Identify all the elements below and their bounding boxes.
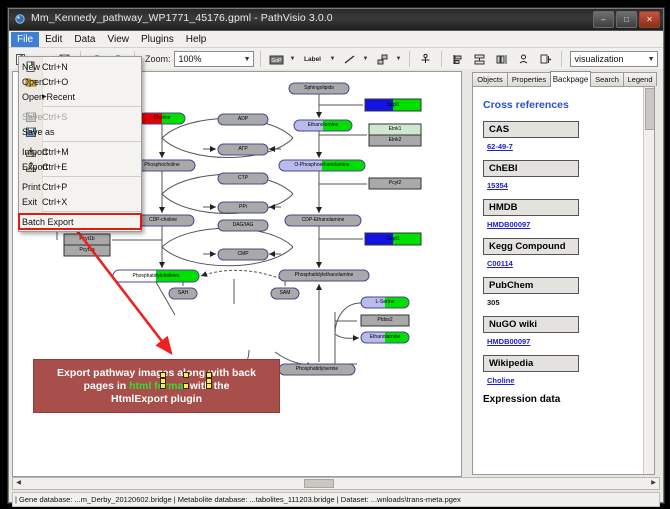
svg-text:GnP: GnP	[271, 58, 282, 64]
group-icon[interactable]	[514, 50, 533, 69]
anchor-icon[interactable]	[416, 50, 435, 69]
scrollbar-thumb[interactable]	[645, 88, 655, 130]
no-icon	[19, 214, 42, 229]
pathvisio-window: Mm_Kennedy_pathway_WP1771_45176.gpml - P…	[8, 8, 664, 503]
toolbar-separator	[260, 51, 261, 67]
xref-pubchem: PubChem 305	[483, 277, 654, 307]
xref-head-kegg: Kegg Compound	[483, 238, 579, 255]
line-dropdown-icon[interactable]: ▼	[362, 56, 370, 62]
hscroll-thumb[interactable]	[304, 479, 334, 488]
tab-backpage[interactable]: Backpage	[550, 71, 591, 87]
file-menu-items: NewCtrl+NOpenCtrl+OOpen Recent▶SaveCtrl+…	[19, 59, 141, 229]
selection-handle[interactable]	[183, 383, 189, 389]
visualization-value: visualization	[575, 54, 624, 64]
selection-handle[interactable]	[183, 372, 189, 378]
menu-edit[interactable]: Edit	[39, 32, 68, 47]
expression-data-title: Expression data	[483, 394, 654, 405]
zoom-combo[interactable]: 100% ▼	[174, 51, 254, 67]
xref-hmdb: HMDB HMDB00097	[483, 199, 654, 229]
menu-file[interactable]: File	[11, 32, 39, 47]
scroll-right-icon[interactable]: ▶	[648, 478, 659, 487]
selection-handle[interactable]	[160, 383, 166, 389]
maximize-button[interactable]: □	[616, 11, 637, 28]
close-button[interactable]: ✕	[639, 11, 660, 28]
menu-item-accelerator: Ctrl+N	[42, 62, 75, 72]
backpage-panel: Cross references CAS 62-49-7 ChEBI 15354…	[472, 86, 655, 475]
xref-kegg: Kegg Compound C00114	[483, 238, 654, 268]
menu-separator	[42, 176, 141, 177]
menu-item-batch-export[interactable]: Batch Export	[19, 214, 141, 229]
xref-value-cas[interactable]: 62-49-7	[487, 142, 654, 151]
menu-item-open[interactable]: OpenCtrl+O	[19, 74, 141, 89]
xref-value-hmdb[interactable]: HMDB00097	[487, 220, 654, 229]
export-icon	[19, 159, 42, 174]
xref-cas: CAS 62-49-7	[483, 121, 654, 151]
toolbar-separator	[409, 51, 410, 67]
label-icon-text: Label	[304, 56, 321, 63]
open-folder-icon	[19, 74, 42, 89]
toolbar-separator	[441, 51, 442, 67]
menu-plugins[interactable]: Plugins	[135, 32, 180, 47]
scroll-left-icon[interactable]: ◀	[13, 478, 24, 487]
window-title: Mm_Kennedy_pathway_WP1771_45176.gpml - P…	[31, 12, 333, 24]
side-tabstrip: Objects Properties Backpage Search Legen…	[472, 71, 658, 86]
xref-wikipedia: Wikipedia Choline	[483, 355, 654, 385]
horizontal-scrollbar[interactable]: ◀ ▶	[12, 477, 660, 490]
menu-item-open-recent[interactable]: Open Recent▶	[19, 89, 141, 104]
save-disk-icon	[19, 109, 42, 124]
xref-nugo: NuGO wiki HMDB00097	[483, 316, 654, 346]
minimize-button[interactable]: –	[593, 11, 614, 28]
menu-item-save-as[interactable]: Save as	[19, 124, 141, 139]
menu-separator	[42, 211, 141, 212]
menu-item-import[interactable]: ImportCtrl+M	[19, 144, 141, 159]
zoom-value: 100%	[179, 54, 202, 64]
xref-head-wikipedia: Wikipedia	[483, 355, 579, 372]
file-menu-dropdown[interactable]: NewCtrl+NOpenCtrl+OOpen Recent▶SaveCtrl+…	[18, 56, 142, 232]
close-icon: ✕	[646, 16, 653, 24]
xref-value-pubchem: 305	[487, 298, 654, 307]
menu-item-accelerator: Ctrl+O	[42, 77, 75, 87]
xref-value-chebi[interactable]: 15354	[487, 181, 654, 190]
minimize-icon: –	[601, 16, 605, 24]
menu-separator	[42, 106, 141, 107]
selection-handle[interactable]	[206, 383, 212, 389]
screenshot-root: Mm_Kennedy_pathway_WP1771_45176.gpml - P…	[0, 0, 670, 509]
line-icon[interactable]	[340, 50, 359, 69]
menu-item-new[interactable]: NewCtrl+N	[19, 59, 141, 74]
new-file-icon	[19, 59, 42, 74]
stack-icon[interactable]	[492, 50, 511, 69]
menu-item-accelerator: Ctrl+E	[42, 162, 74, 172]
datanode-dropdown-icon[interactable]: ▼	[289, 56, 297, 62]
maximize-icon: □	[624, 16, 629, 24]
zoom-label: Zoom:	[145, 54, 171, 64]
menu-view[interactable]: View	[101, 32, 135, 47]
chevron-down-icon: ▼	[648, 56, 655, 63]
shape-dropdown-icon[interactable]: ▼	[395, 56, 403, 62]
toolbar-separator	[561, 51, 562, 67]
menu-item-accelerator: Ctrl+M	[42, 147, 76, 157]
tab-search[interactable]: Search	[590, 72, 624, 86]
import-icon	[19, 144, 42, 159]
save-as-icon	[19, 124, 42, 139]
no-icon	[19, 179, 42, 194]
label-dropdown-icon[interactable]: ▼	[329, 56, 337, 62]
shape-icon[interactable]	[373, 50, 392, 69]
order-icon[interactable]	[536, 50, 555, 69]
xref-head-cas: CAS	[483, 121, 579, 138]
menu-item-print[interactable]: PrintCtrl+P	[19, 179, 141, 194]
xref-head-nugo: NuGO wiki	[483, 316, 579, 333]
tab-objects[interactable]: Objects	[472, 72, 508, 86]
tab-legend[interactable]: Legend	[623, 72, 657, 86]
menu-item-save: SaveCtrl+S	[19, 109, 141, 124]
xref-value-wikipedia[interactable]: Choline	[487, 376, 654, 385]
no-icon	[19, 89, 42, 104]
chevron-down-icon: ▼	[244, 56, 251, 63]
status-area: ◀ ▶ | Gene database: ...m_Derby_20120602…	[12, 477, 660, 503]
menu-item-accelerator: Ctrl+X	[42, 197, 74, 207]
xref-value-kegg[interactable]: C00114	[487, 259, 654, 268]
status-bar: | Gene database: ...m_Derby_20120602.bri…	[12, 492, 660, 507]
cross-references-title: Cross references	[483, 99, 654, 111]
window-controls: – □ ✕	[593, 11, 660, 28]
xref-head-pubchem: PubChem	[483, 277, 579, 294]
no-icon	[19, 194, 42, 209]
tab-properties[interactable]: Properties	[507, 72, 551, 86]
label-icon[interactable]: Label	[300, 50, 326, 69]
title-bar: Mm_Kennedy_pathway_WP1771_45176.gpml - P…	[9, 9, 663, 31]
side-panel: Objects Properties Backpage Search Legen…	[464, 71, 658, 475]
menu-separator	[42, 141, 141, 142]
xref-head-hmdb: HMDB	[483, 199, 579, 216]
chevron-right-icon: ▶	[42, 93, 53, 100]
menu-bar: File Edit Data View Plugins Help	[9, 31, 663, 48]
distribute-icon[interactable]	[470, 50, 489, 69]
menu-item-exit[interactable]: ExitCtrl+X	[19, 194, 141, 209]
status-text: | Gene database: ...m_Derby_20120602.bri…	[15, 495, 461, 504]
xref-head-chebi: ChEBI	[483, 160, 579, 177]
app-icon	[14, 13, 27, 26]
visualization-combo[interactable]: visualization ▼	[570, 51, 658, 67]
datanode-icon[interactable]: GnP	[267, 50, 286, 69]
xref-value-nugo[interactable]: HMDB00097	[487, 337, 654, 346]
menu-item-export[interactable]: ExportCtrl+E	[19, 159, 141, 174]
menu-item-accelerator: Ctrl+P	[42, 182, 74, 192]
menu-help[interactable]: Help	[180, 32, 213, 47]
xref-chebi: ChEBI 15354	[483, 160, 654, 190]
align-icon[interactable]	[448, 50, 467, 69]
menu-data[interactable]: Data	[68, 32, 101, 47]
backpage-scrollbar[interactable]	[643, 87, 654, 474]
menu-item-accelerator: Ctrl+S	[42, 112, 74, 122]
